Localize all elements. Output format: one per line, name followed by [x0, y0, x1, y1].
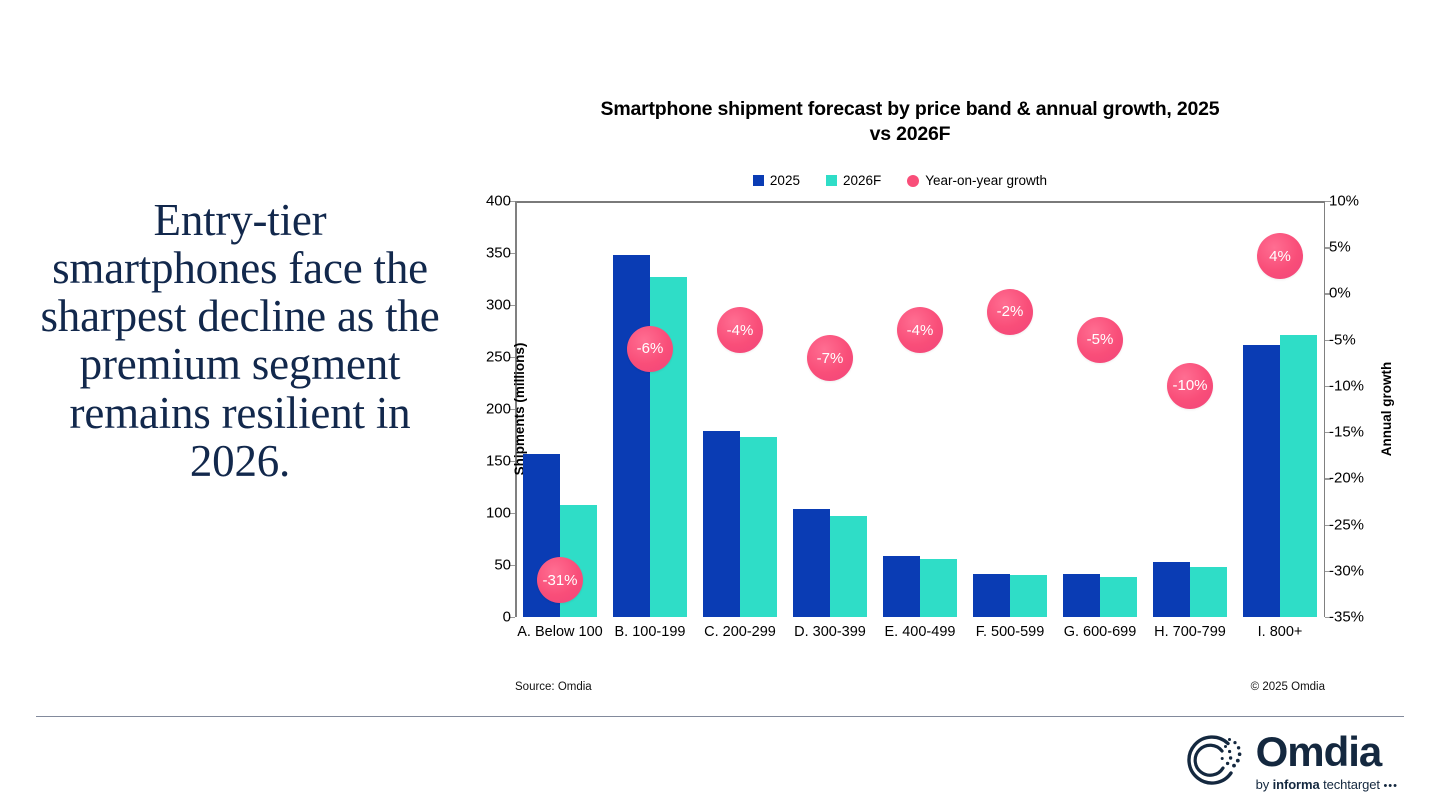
y-axis-right-tick-label: -30% [1329, 562, 1399, 579]
tagline-brand: informa [1273, 777, 1320, 792]
tagline-prefix: by [1256, 777, 1273, 792]
legend-item-2025[interactable]: 2025 [753, 173, 800, 188]
y-axis-left-tick-label: 250 [441, 349, 511, 366]
bar-2026f[interactable] [1010, 575, 1047, 617]
x-axis-category-label: I. 800+ [1235, 623, 1325, 643]
footer-divider [36, 716, 1404, 717]
legend-swatch-2026f [826, 175, 837, 186]
x-axis-category-label: F. 500-599 [965, 623, 1055, 643]
growth-bubble[interactable]: -4% [717, 307, 763, 353]
omdia-mark-icon [1182, 730, 1244, 792]
bar-2026f[interactable] [1100, 577, 1137, 617]
legend-label-2025: 2025 [770, 173, 800, 188]
bar-2026f[interactable] [740, 437, 777, 617]
bar-2026f[interactable] [1190, 567, 1227, 617]
x-axis-category-label: E. 400-499 [875, 623, 965, 643]
omdia-logo-text: Omdia by informa techtarget ••• [1256, 731, 1398, 792]
y-axis-right-tick-label: 0% [1329, 285, 1399, 302]
omdia-logo: Omdia by informa techtarget ••• [1182, 728, 1398, 794]
y-axis-right-tick-label: 10% [1329, 193, 1399, 210]
growth-bubble[interactable]: -7% [807, 335, 853, 381]
bar-2025[interactable] [883, 556, 920, 617]
y-axis-right-tick-label: -15% [1329, 424, 1399, 441]
y-axis-left-tick-label: 0 [441, 609, 511, 626]
copyright-note: © 2025 Omdia [1251, 681, 1325, 693]
bar-2025[interactable] [613, 255, 650, 617]
bar-2025[interactable] [1063, 574, 1100, 617]
bar-2025[interactable] [703, 431, 740, 617]
x-axis-category-label: H. 700-799 [1145, 623, 1235, 643]
legend-item-2026f[interactable]: 2026F [826, 173, 881, 188]
plot-area: Shipments (millions) Annual growth 05010… [515, 201, 1325, 617]
legend-label-growth: Year-on-year growth [925, 173, 1047, 188]
y-axis-right-tick-label: -20% [1329, 470, 1399, 487]
bar-2025[interactable] [1153, 562, 1190, 617]
y-axis-left-tick-label: 350 [441, 245, 511, 262]
growth-bubble[interactable]: -31% [537, 557, 583, 603]
headline-text: Entry-tier smartphones face the sharpest… [40, 196, 440, 485]
bar-2025[interactable] [973, 574, 1010, 617]
tagline-dots: ••• [1383, 780, 1398, 792]
growth-bubble[interactable]: -10% [1167, 363, 1213, 409]
chart-title: Smartphone shipment forecast by price ba… [590, 97, 1230, 147]
x-axis-category-label: G. 600-699 [1055, 623, 1145, 643]
omdia-wordmark: Omdia [1256, 731, 1398, 773]
y-axis-right-tick-label: 5% [1329, 239, 1399, 256]
y-axis-left-tick-label: 400 [441, 193, 511, 210]
bar-2026f[interactable] [830, 516, 867, 617]
chart-legend: 2025 2026F Year-on-year growth [440, 173, 1360, 188]
y-axis-left-tick-label: 150 [441, 453, 511, 470]
growth-bubble[interactable]: -6% [627, 326, 673, 372]
legend-item-growth[interactable]: Year-on-year growth [907, 173, 1047, 188]
slide-root: Entry-tier smartphones face the sharpest… [0, 0, 1440, 810]
x-axis-category-label: C. 200-299 [695, 623, 785, 643]
omdia-tagline: by informa techtarget ••• [1256, 778, 1398, 792]
legend-swatch-2025 [753, 175, 764, 186]
chart-panel: Smartphone shipment forecast by price ba… [440, 85, 1360, 705]
x-axis-category-label: D. 300-399 [785, 623, 875, 643]
growth-bubble[interactable]: 4% [1257, 233, 1303, 279]
bar-2025[interactable] [1243, 345, 1280, 617]
y-axis-right-line [1324, 201, 1326, 617]
y-axis-left-tick-label: 200 [441, 401, 511, 418]
tagline-suffix: techtarget [1320, 777, 1380, 792]
growth-bubble[interactable]: -5% [1077, 317, 1123, 363]
x-axis-category-label: A. Below 100 [515, 623, 605, 643]
source-note: Source: Omdia [515, 681, 592, 693]
bar-2026f[interactable] [1280, 335, 1317, 617]
y-axis-left-tick-label: 300 [441, 297, 511, 314]
y-axis-right-tick-label: -25% [1329, 516, 1399, 533]
legend-label-2026f: 2026F [843, 173, 881, 188]
y-axis-right-tick-label: -10% [1329, 377, 1399, 394]
x-axis-category-label: B. 100-199 [605, 623, 695, 643]
y-axis-left-tick-label: 100 [441, 505, 511, 522]
bar-2025[interactable] [793, 509, 830, 617]
legend-swatch-growth [907, 175, 919, 187]
x-axis-line [515, 201, 1325, 203]
y-axis-right-title: Annual growth [1378, 362, 1393, 457]
growth-bubble[interactable]: -4% [897, 307, 943, 353]
y-axis-right-tick-label: -5% [1329, 331, 1399, 348]
y-axis-left-tick-label: 50 [441, 557, 511, 574]
growth-bubble[interactable]: -2% [987, 289, 1033, 335]
y-axis-right-tick-label: -35% [1329, 609, 1399, 626]
bar-2026f[interactable] [920, 559, 957, 617]
